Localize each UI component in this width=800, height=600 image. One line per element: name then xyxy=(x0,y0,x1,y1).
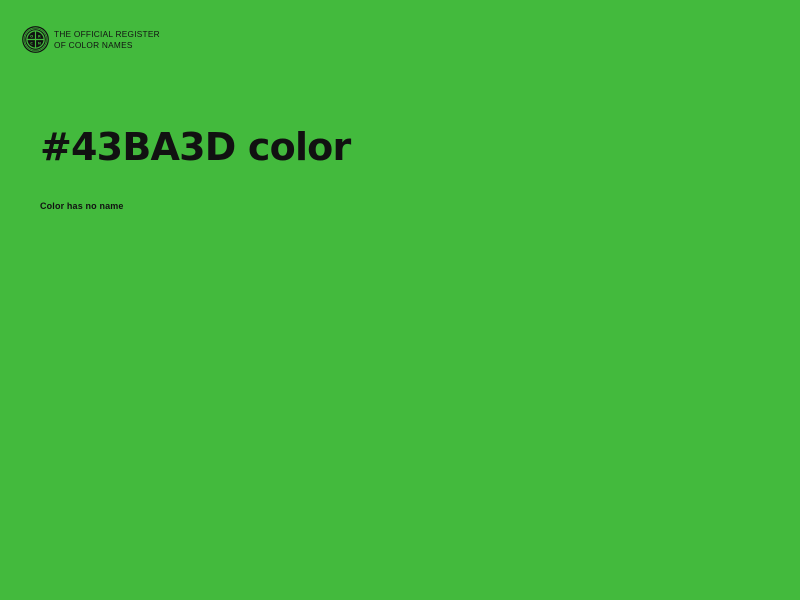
svg-text:N: N xyxy=(38,42,41,46)
color-detail-page: O R C N THE OFFICIAL REGISTER OF COLOR N… xyxy=(0,0,800,600)
brand-wordmark-line-1: THE OFFICIAL REGISTER xyxy=(54,29,160,39)
register-seal-icon: O R C N xyxy=(22,26,49,53)
svg-text:R: R xyxy=(38,35,41,39)
site-brand[interactable]: O R C N THE OFFICIAL REGISTER OF COLOR N… xyxy=(22,26,160,53)
brand-wordmark-line-2: OF COLOR NAMES xyxy=(54,40,160,50)
color-name-status: Color has no name xyxy=(40,170,760,212)
color-info-block: #43BA3D color Color has no name xyxy=(40,124,760,212)
brand-wordmark: THE OFFICIAL REGISTER OF COLOR NAMES xyxy=(54,29,160,49)
svg-text:C: C xyxy=(30,42,33,46)
svg-text:O: O xyxy=(30,35,33,39)
page-title: #43BA3D color xyxy=(40,124,760,170)
